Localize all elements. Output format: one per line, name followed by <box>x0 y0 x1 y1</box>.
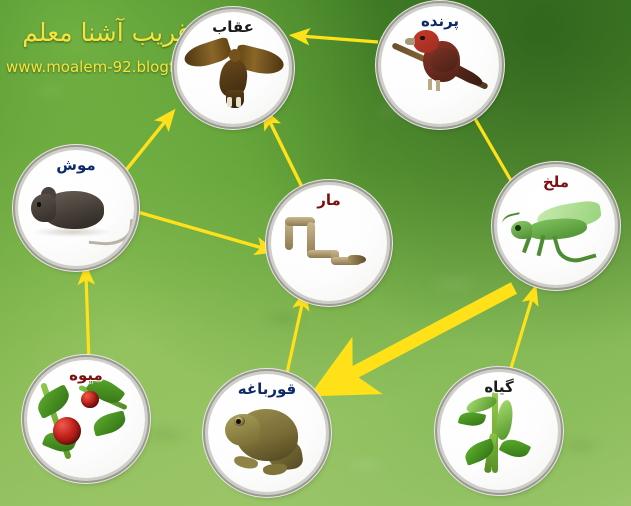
snake-illustration <box>271 185 387 301</box>
node-mouse[interactable]: موش <box>18 150 134 266</box>
edge-mouse-to-snake <box>127 209 266 249</box>
plant-illustration <box>440 372 558 490</box>
frog-illustration <box>208 374 326 492</box>
fruit-illustration <box>27 360 145 478</box>
edge-snake-to-eagle <box>268 118 303 189</box>
edge-frog-to-snake <box>285 300 303 382</box>
bird-illustration <box>381 6 499 124</box>
node-snake[interactable]: مار <box>271 185 387 301</box>
node-grasshopper[interactable]: ملخ <box>497 167 615 285</box>
grasshopper-illustration <box>497 167 615 285</box>
node-bird[interactable]: پرنده <box>381 6 499 124</box>
watermark-title: غریب آشنا معلم <box>10 18 190 47</box>
edge-bird-to-eagle <box>300 36 378 42</box>
edge-plant-to-grasshopper <box>508 295 533 378</box>
node-frog[interactable]: قورباغه <box>208 374 326 492</box>
node-fruit[interactable]: میوه <box>27 360 145 478</box>
node-plant[interactable]: گیاه <box>440 372 558 490</box>
node-eagle[interactable]: عقاب <box>177 12 289 124</box>
edge-fruit-to-mouse <box>86 275 89 363</box>
food-web-diagram: غریب آشنا معلم www.moalem-92.blogfa.com … <box>0 0 631 506</box>
eagle-illustration <box>177 12 289 124</box>
mouse-illustration <box>18 150 134 266</box>
edge-grasshopper-to-frog <box>340 288 514 380</box>
